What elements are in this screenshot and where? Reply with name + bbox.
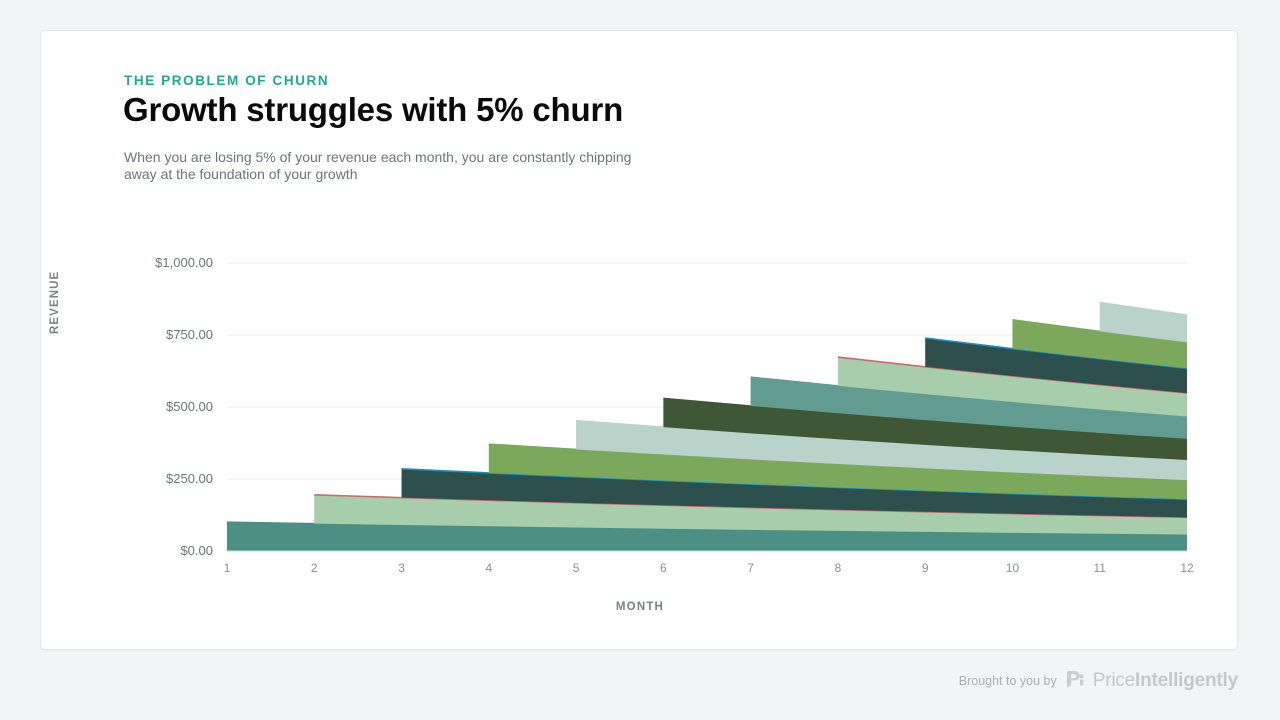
revenue-churn-chart: REVENUE $0.00$250.00$500.00$750.00$1,000… — [41, 216, 1239, 636]
x-tick-label: 12 — [1180, 561, 1194, 575]
screenshot-root: THE PROBLEM OF CHURN Growth struggles wi… — [0, 0, 1280, 720]
x-tick-label: 11 — [1093, 561, 1106, 575]
chart-card: THE PROBLEM OF CHURN Growth struggles wi… — [40, 30, 1238, 650]
x-tick-label: 1 — [224, 561, 231, 575]
x-tick-label: 9 — [922, 561, 929, 575]
x-tick-label: 6 — [660, 561, 667, 575]
x-tick-label: 10 — [1006, 561, 1020, 575]
card-subtitle: When you are losing 5% of your revenue e… — [124, 149, 664, 183]
x-tick-label: 5 — [573, 561, 580, 575]
footer-prefix: Brought to you by — [959, 674, 1057, 688]
y-tick-label: $500.00 — [166, 399, 213, 414]
x-tick-label: 4 — [485, 561, 492, 575]
x-tick-label: 3 — [398, 561, 405, 575]
x-axis-title: MONTH — [41, 601, 1239, 613]
x-tick-label: 8 — [835, 561, 842, 575]
brand-name: PriceIntelligently — [1093, 670, 1238, 692]
y-tick-label: $1,000.00 — [155, 255, 213, 270]
page-title: Growth struggles with 5% churn — [123, 91, 623, 129]
stacked-area-plot: $0.00$250.00$500.00$750.00$1,000.0012345… — [41, 216, 1239, 596]
x-tick-label: 7 — [747, 561, 754, 575]
x-tick-label: 2 — [311, 561, 318, 575]
brand-name-light: Price — [1093, 670, 1135, 691]
card-eyebrow: THE PROBLEM OF CHURN — [124, 73, 329, 88]
y-tick-label: $750.00 — [166, 327, 213, 342]
brand-name-bold: Intelligently — [1135, 670, 1238, 691]
pi-logo-icon — [1064, 668, 1086, 693]
y-tick-label: $0.00 — [180, 543, 213, 558]
y-tick-label: $250.00 — [166, 471, 213, 486]
footer-attribution: Brought to you by PriceIntelligently — [0, 668, 1238, 693]
